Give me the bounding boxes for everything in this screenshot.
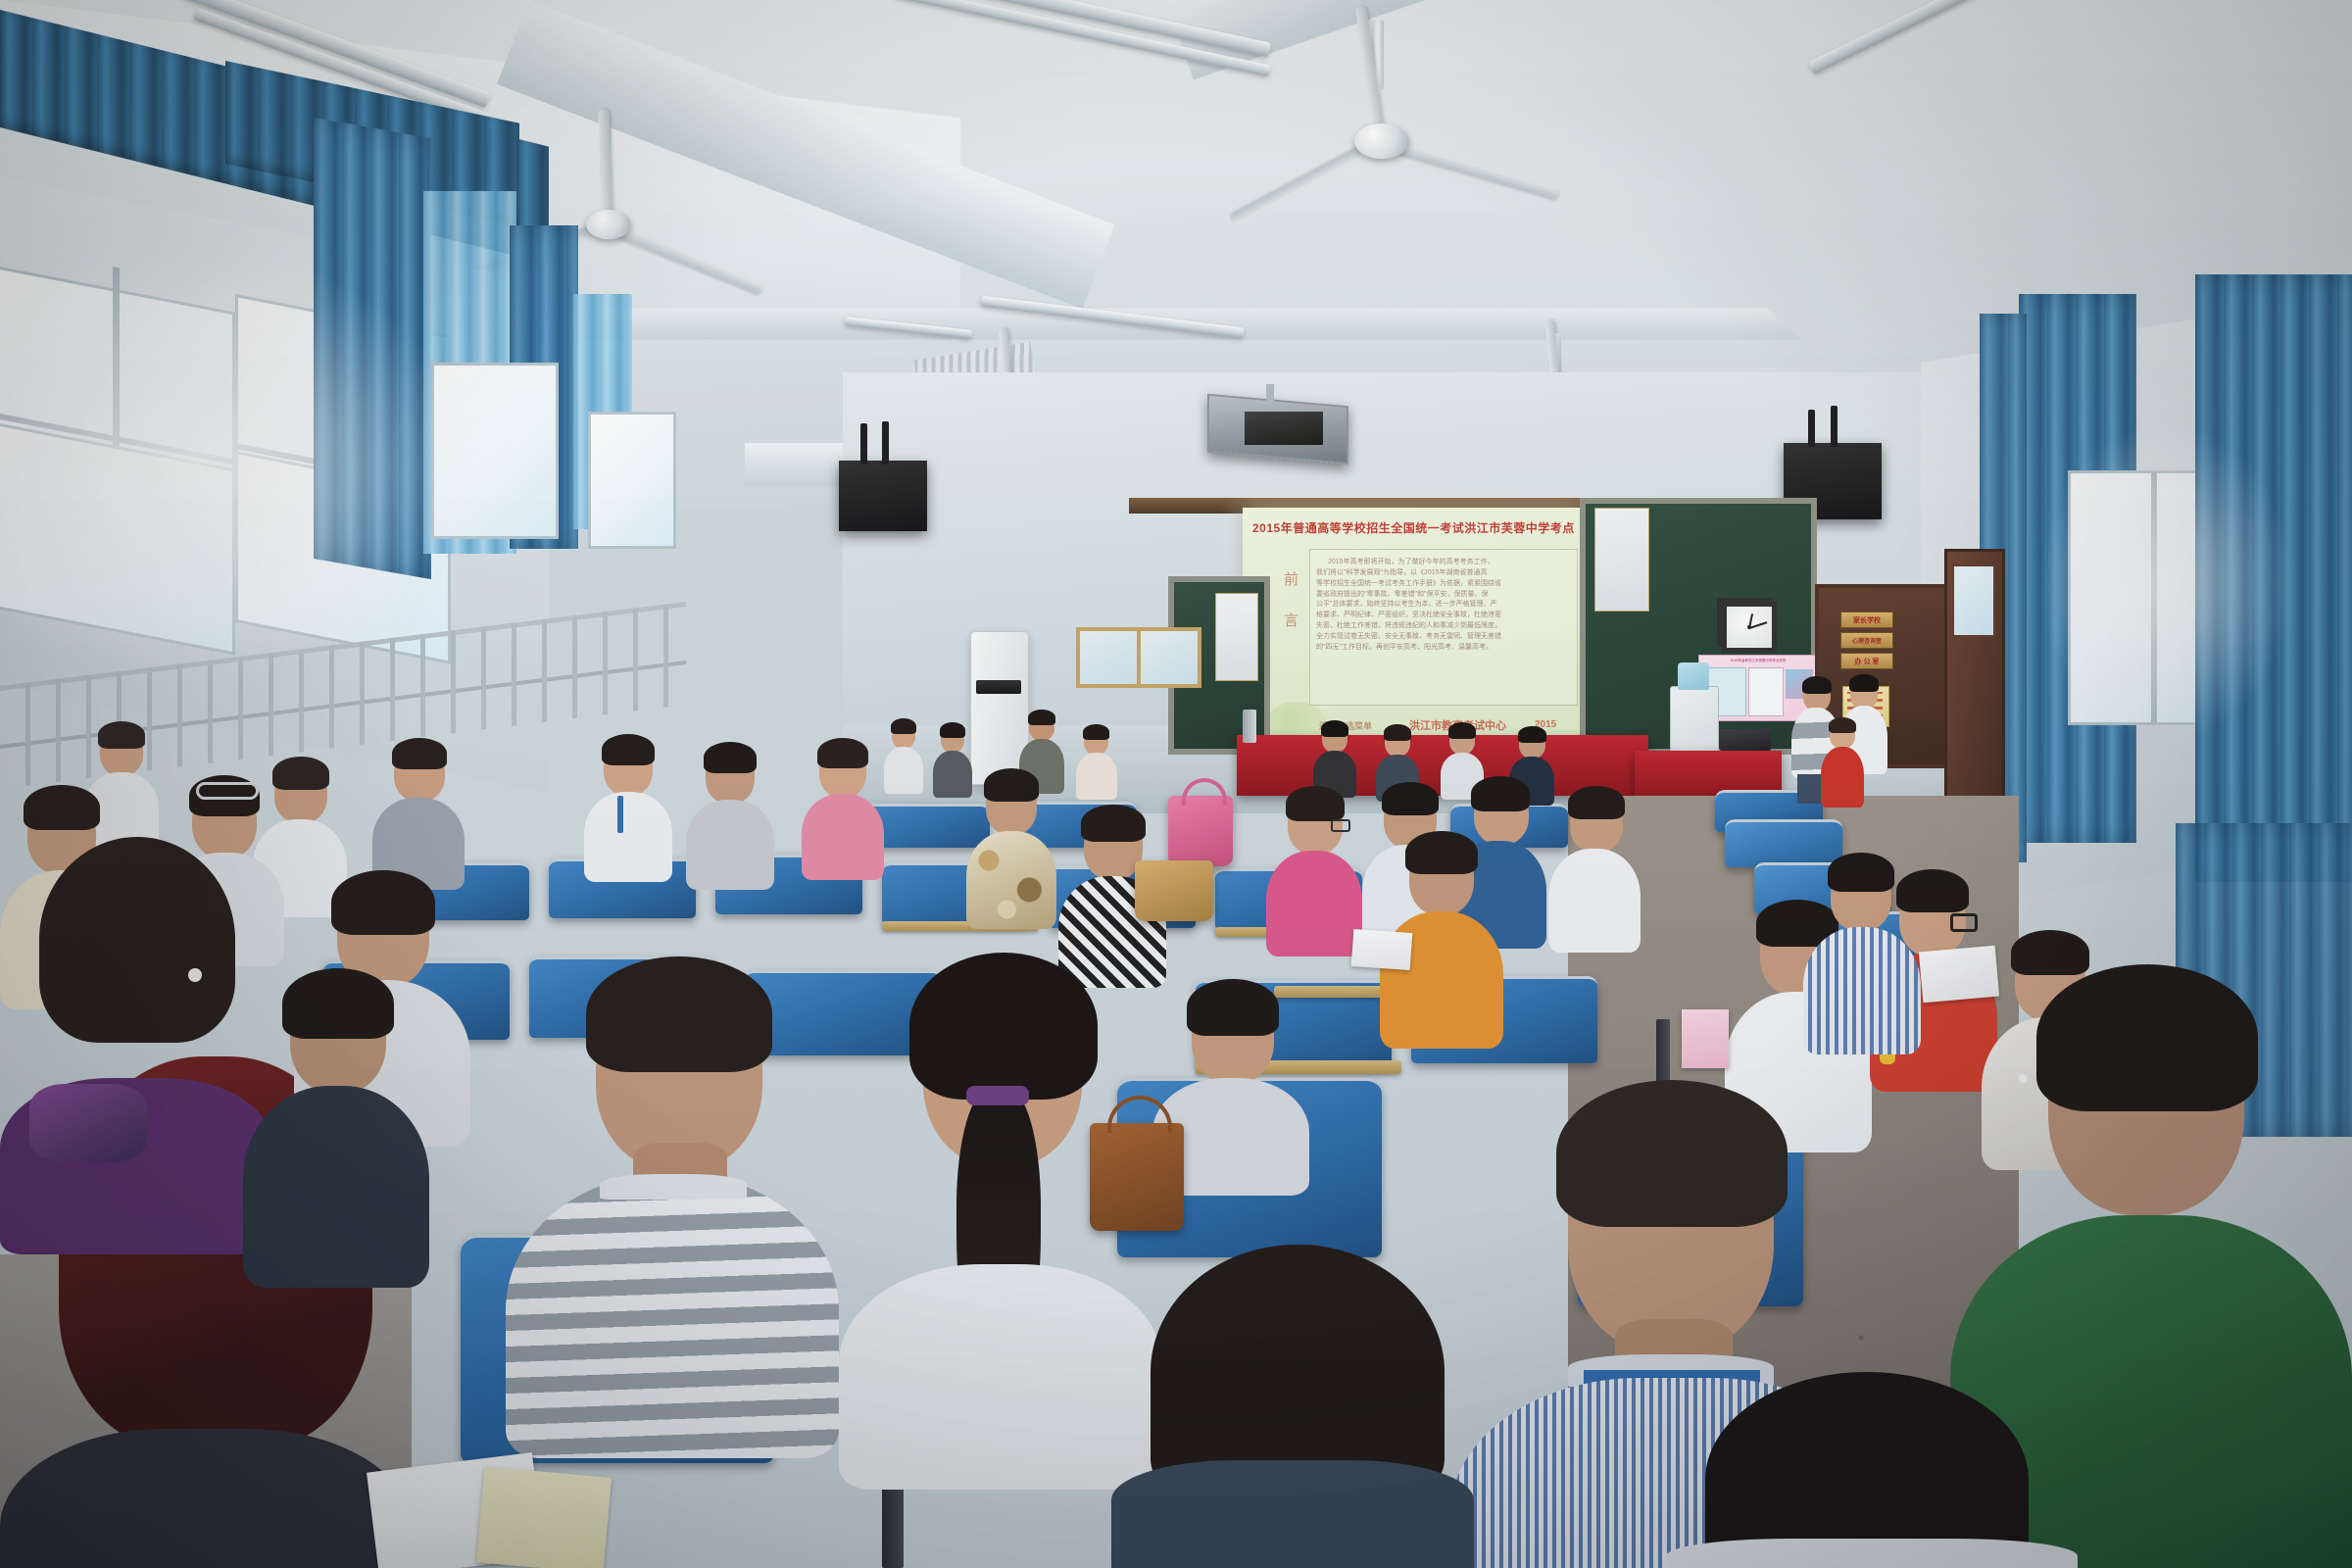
slide-body-line-4: 委省政府提出的"零事故、零差错"和"保平安、保质量、保 [1316, 590, 1571, 601]
framed-picture-2 [1137, 627, 1201, 688]
hair [1568, 786, 1625, 819]
window-left-3 [431, 363, 559, 539]
seat-right-far-1[interactable] [1725, 819, 1842, 867]
sunglasses-on-head [196, 782, 259, 800]
hair [1471, 776, 1530, 811]
hair [1081, 805, 1146, 842]
projector-lens-body [1245, 412, 1323, 445]
person-near-dark-head-bottom-right [1666, 1372, 2078, 1568]
cabinet-plaque-1: 家长学校 [1840, 612, 1893, 628]
hair [39, 837, 235, 1043]
person-mid-left-4 [372, 745, 465, 884]
person-mid-right-4 [1548, 794, 1641, 949]
person-mid-center-1 [686, 749, 774, 884]
person-right-grey-check [1803, 862, 1921, 1049]
person-mid-center-3 [966, 776, 1056, 923]
slide-heading-char-1: 前 [1284, 568, 1298, 591]
torso [243, 1086, 429, 1288]
slide-body-line-5: 公平"总体要求，始终坚持以考生为本，进一步严格管理、严 [1316, 600, 1571, 611]
slide-body-line-9: 的"四无"工作目标，再创平安高考、阳光高考、温馨高考。 [1316, 643, 1571, 654]
hair [2036, 964, 2258, 1111]
torso [1803, 927, 1921, 1054]
hair [1321, 720, 1348, 737]
torso [966, 831, 1056, 929]
person-mid-left-5-lanyard [584, 741, 672, 878]
slide-body-line-7: 失密、杜绝工作差错，将违规违纪的人和事减少到最低限度， [1316, 621, 1571, 632]
person-far-row-1 [884, 721, 923, 790]
cabinet-plaque-3: 办 公 室 [1840, 653, 1893, 669]
hair [940, 722, 965, 738]
cabinet-plaque-2: 心理咨询室 [1840, 632, 1893, 649]
framed-picture-1 [1076, 627, 1141, 688]
air-conditioner-vent [976, 680, 1021, 694]
hair [1382, 782, 1439, 815]
slide-heading-char-2: 言 [1284, 610, 1298, 632]
torso [1266, 851, 1362, 956]
hair [1405, 831, 1478, 874]
torso [1076, 753, 1117, 800]
table-laptop [1720, 729, 1771, 751]
shoulder [1666, 1539, 2078, 1568]
slide-body-line-1: 2015年高考即将开始，为了做好今年的高考考务工作， [1328, 558, 1571, 568]
speaker-antenna-right-2 [1831, 406, 1837, 447]
hair [331, 870, 435, 935]
torso [884, 747, 923, 794]
hair [602, 734, 655, 765]
person-near-center-dark-head [1111, 1245, 1474, 1568]
torso [802, 794, 884, 880]
hair [1802, 676, 1832, 694]
hair [984, 768, 1039, 802]
curtain-right-main [2195, 274, 2352, 882]
hair [98, 721, 145, 749]
hair [704, 742, 757, 773]
lecture-hall-photo: 2015年普通高等学校招生全国统一考试洪江市芙蓉中学考点 2015年高考即将开始… [0, 0, 2352, 1568]
neck-scarf [29, 1084, 147, 1162]
curtain-left-main [314, 118, 431, 579]
person-mid-center-2-pink [802, 745, 884, 874]
wall-speaker-left [839, 461, 927, 531]
window-mullion-right [2151, 472, 2157, 723]
shoulder [1111, 1460, 1474, 1568]
eyeglasses [1950, 913, 1978, 932]
table-thermos [1243, 710, 1256, 743]
lanyard-strap [617, 796, 623, 833]
speaker-antenna-left-2 [882, 421, 889, 465]
hair [1828, 853, 1894, 892]
presenter-hair [1028, 710, 1055, 725]
torso [0, 1429, 412, 1568]
hair [1556, 1080, 1788, 1227]
person-far-row-4 [1313, 723, 1356, 794]
slide-body-line-8: 全力实现试卷无失密、安全无事故、考务无雷同、管理无差错 [1316, 632, 1571, 643]
slide-body-line-3: 等学校招生全国统一考试考务工作手册》为依据，紧紧围绕省 [1316, 579, 1571, 590]
person-mid-right-1-glasses [1266, 794, 1362, 951]
hair [1083, 724, 1109, 740]
hair [1518, 726, 1546, 743]
hair [1286, 786, 1345, 821]
hair [817, 738, 868, 768]
hair [2011, 930, 2089, 975]
handout-papers-front-2[interactable] [476, 1467, 612, 1568]
door-window [1952, 564, 1995, 637]
handout-papers-right[interactable] [1919, 946, 1999, 1004]
hair [1384, 724, 1411, 741]
torso [506, 1174, 839, 1458]
torso [686, 800, 774, 890]
water-bottle [1678, 662, 1709, 690]
speaker-antenna-right-1 [1808, 410, 1815, 447]
handout-papers-mid[interactable] [1351, 929, 1413, 970]
wall-clock [1722, 602, 1777, 653]
person-left-mid-dark-2 [243, 982, 429, 1276]
slide-text-box: 2015年高考即将开始，为了做好今年的高考考务工作， 我们将以"科学发展观"为指… [1309, 549, 1578, 706]
collar [600, 1174, 747, 1200]
hair [909, 953, 1098, 1100]
handbag-brown [1090, 1123, 1184, 1231]
hair [586, 956, 772, 1072]
torso [1821, 747, 1864, 808]
ceiling-fan-2 [1215, 20, 1539, 176]
handbag-pink [1168, 796, 1233, 866]
hair [24, 785, 100, 830]
chalkboard-notice-sheet [1215, 593, 1258, 681]
slide-body-line-6: 格要求、严明纪律、严密组织，坚决杜绝安全事故，杜绝泄密 [1316, 611, 1571, 621]
slide-body-line-2: 我们将以"科学发展观"为指导，以《2015年湖南省普通高 [1316, 568, 1571, 579]
hair-tie [966, 1086, 1029, 1105]
eyeglasses [1331, 819, 1350, 832]
torso [584, 792, 672, 882]
person-near-stripe-polo-man [506, 978, 839, 1448]
poster-title: 2015年高考洪江市芙蓉中学考点安排 [1699, 659, 1817, 663]
hair [282, 968, 394, 1039]
projector-mount-rod [1266, 384, 1274, 404]
torso [1548, 849, 1641, 953]
earring [188, 968, 202, 982]
person-far-row-3 [1076, 727, 1117, 796]
hair [1829, 717, 1856, 733]
hair [1448, 722, 1476, 739]
person-near-purple-woman [0, 853, 274, 1245]
window-left-4 [588, 412, 676, 549]
hair [1849, 674, 1879, 692]
handout-papers-aisle[interactable] [1682, 1009, 1729, 1068]
slide-title: 2015年普通高等学校招生全国统一考试洪江市芙蓉中学考点 [1252, 519, 1580, 537]
poster-chart-block [1748, 667, 1784, 716]
person-standing-rear-3-red [1821, 721, 1864, 811]
speaker-antenna-left-1 [860, 423, 867, 465]
hair [1187, 979, 1279, 1036]
hair [891, 718, 916, 734]
chalkboard-notice-sheet-2 [1594, 508, 1649, 612]
handbag-tan [1135, 860, 1213, 921]
hair [392, 738, 447, 769]
projection-screen: 2015年普通高等学校招生全国统一考试洪江市芙蓉中学考点 2015年高考即将开始… [1243, 508, 1588, 753]
